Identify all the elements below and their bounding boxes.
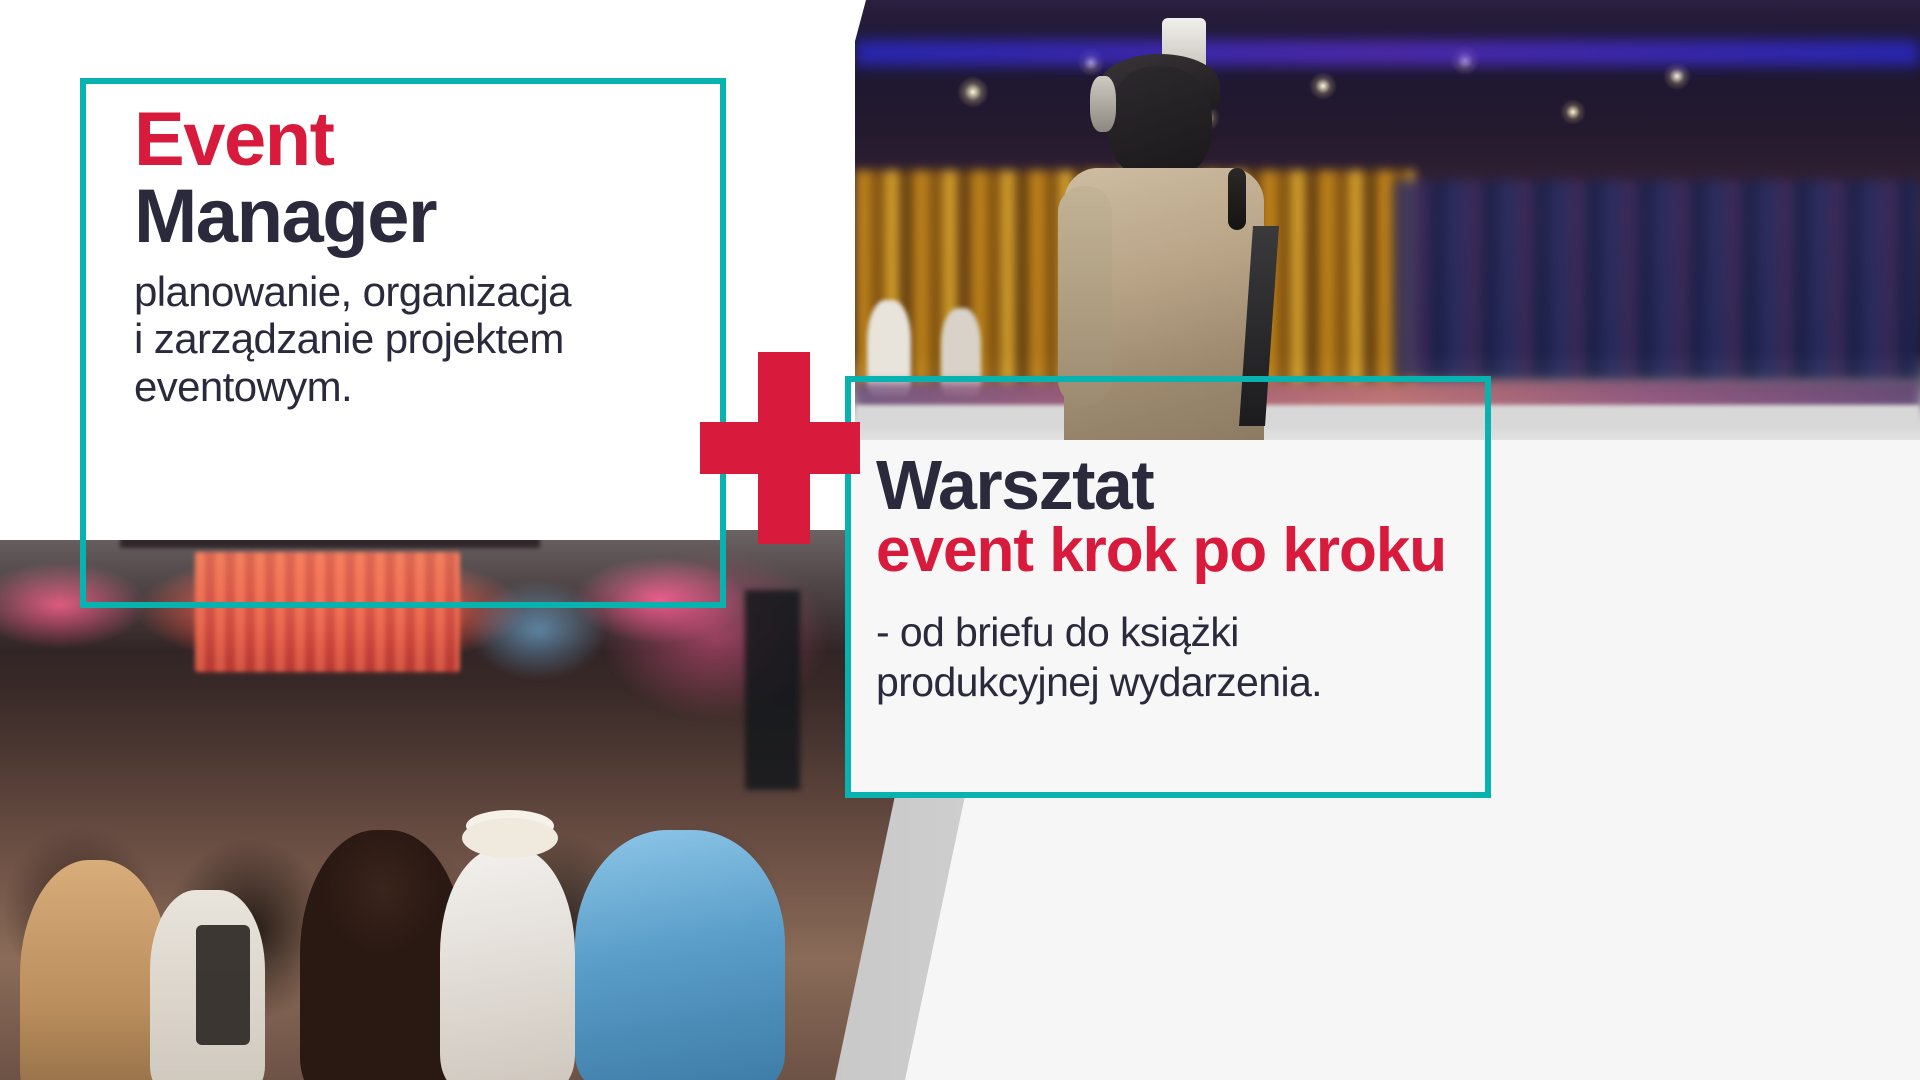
microphone-icon: [1228, 168, 1246, 230]
right-card: Warsztat event krok po kroku - od briefu…: [876, 452, 1486, 707]
plus-horizontal-bar: [700, 422, 860, 474]
cameraman-arm: [1058, 186, 1112, 406]
left-card: Event Manager planowanie, organizacja i …: [134, 104, 734, 410]
stage-curtain-blue: [1395, 180, 1920, 380]
crowd-person-blonde: [20, 860, 170, 1080]
left-body-text: planowanie, organizacja i zarządzanie pr…: [134, 268, 734, 410]
cameraman-head: [1108, 66, 1212, 178]
left-headline-main: Manager: [134, 181, 734, 254]
backpack-strap: [196, 925, 250, 1045]
left-body-line-3: eventowym.: [134, 363, 734, 410]
stage-scaffold: [745, 590, 800, 790]
left-body-line-1: planowanie, organizacja: [134, 268, 734, 315]
headphones-icon: [1090, 76, 1116, 132]
left-body-line-2: i zarządzanie projektem: [134, 315, 734, 362]
crowd-person-hat: [462, 818, 558, 858]
plus-sign-icon: [700, 352, 860, 544]
poster-canvas: Event Manager planowanie, organizacja i …: [0, 0, 1920, 1080]
right-body-line-2: produkcyjnej wydarzenia.: [876, 657, 1486, 707]
left-headline-accent: Event: [134, 104, 734, 177]
crowd-person-white-shirt: [440, 848, 575, 1080]
right-body-line-1: - od briefu do książki: [876, 607, 1486, 657]
crowd-person-blue-shirt: [575, 830, 785, 1080]
right-headline-accent: event krok po kroku: [876, 521, 1486, 581]
right-body-text: - od briefu do książki produkcyjnej wyda…: [876, 607, 1486, 707]
festival-crowd-photo: [0, 530, 910, 1080]
right-headline-main: Warsztat: [876, 452, 1486, 519]
stage-light-bar: [855, 40, 1920, 66]
